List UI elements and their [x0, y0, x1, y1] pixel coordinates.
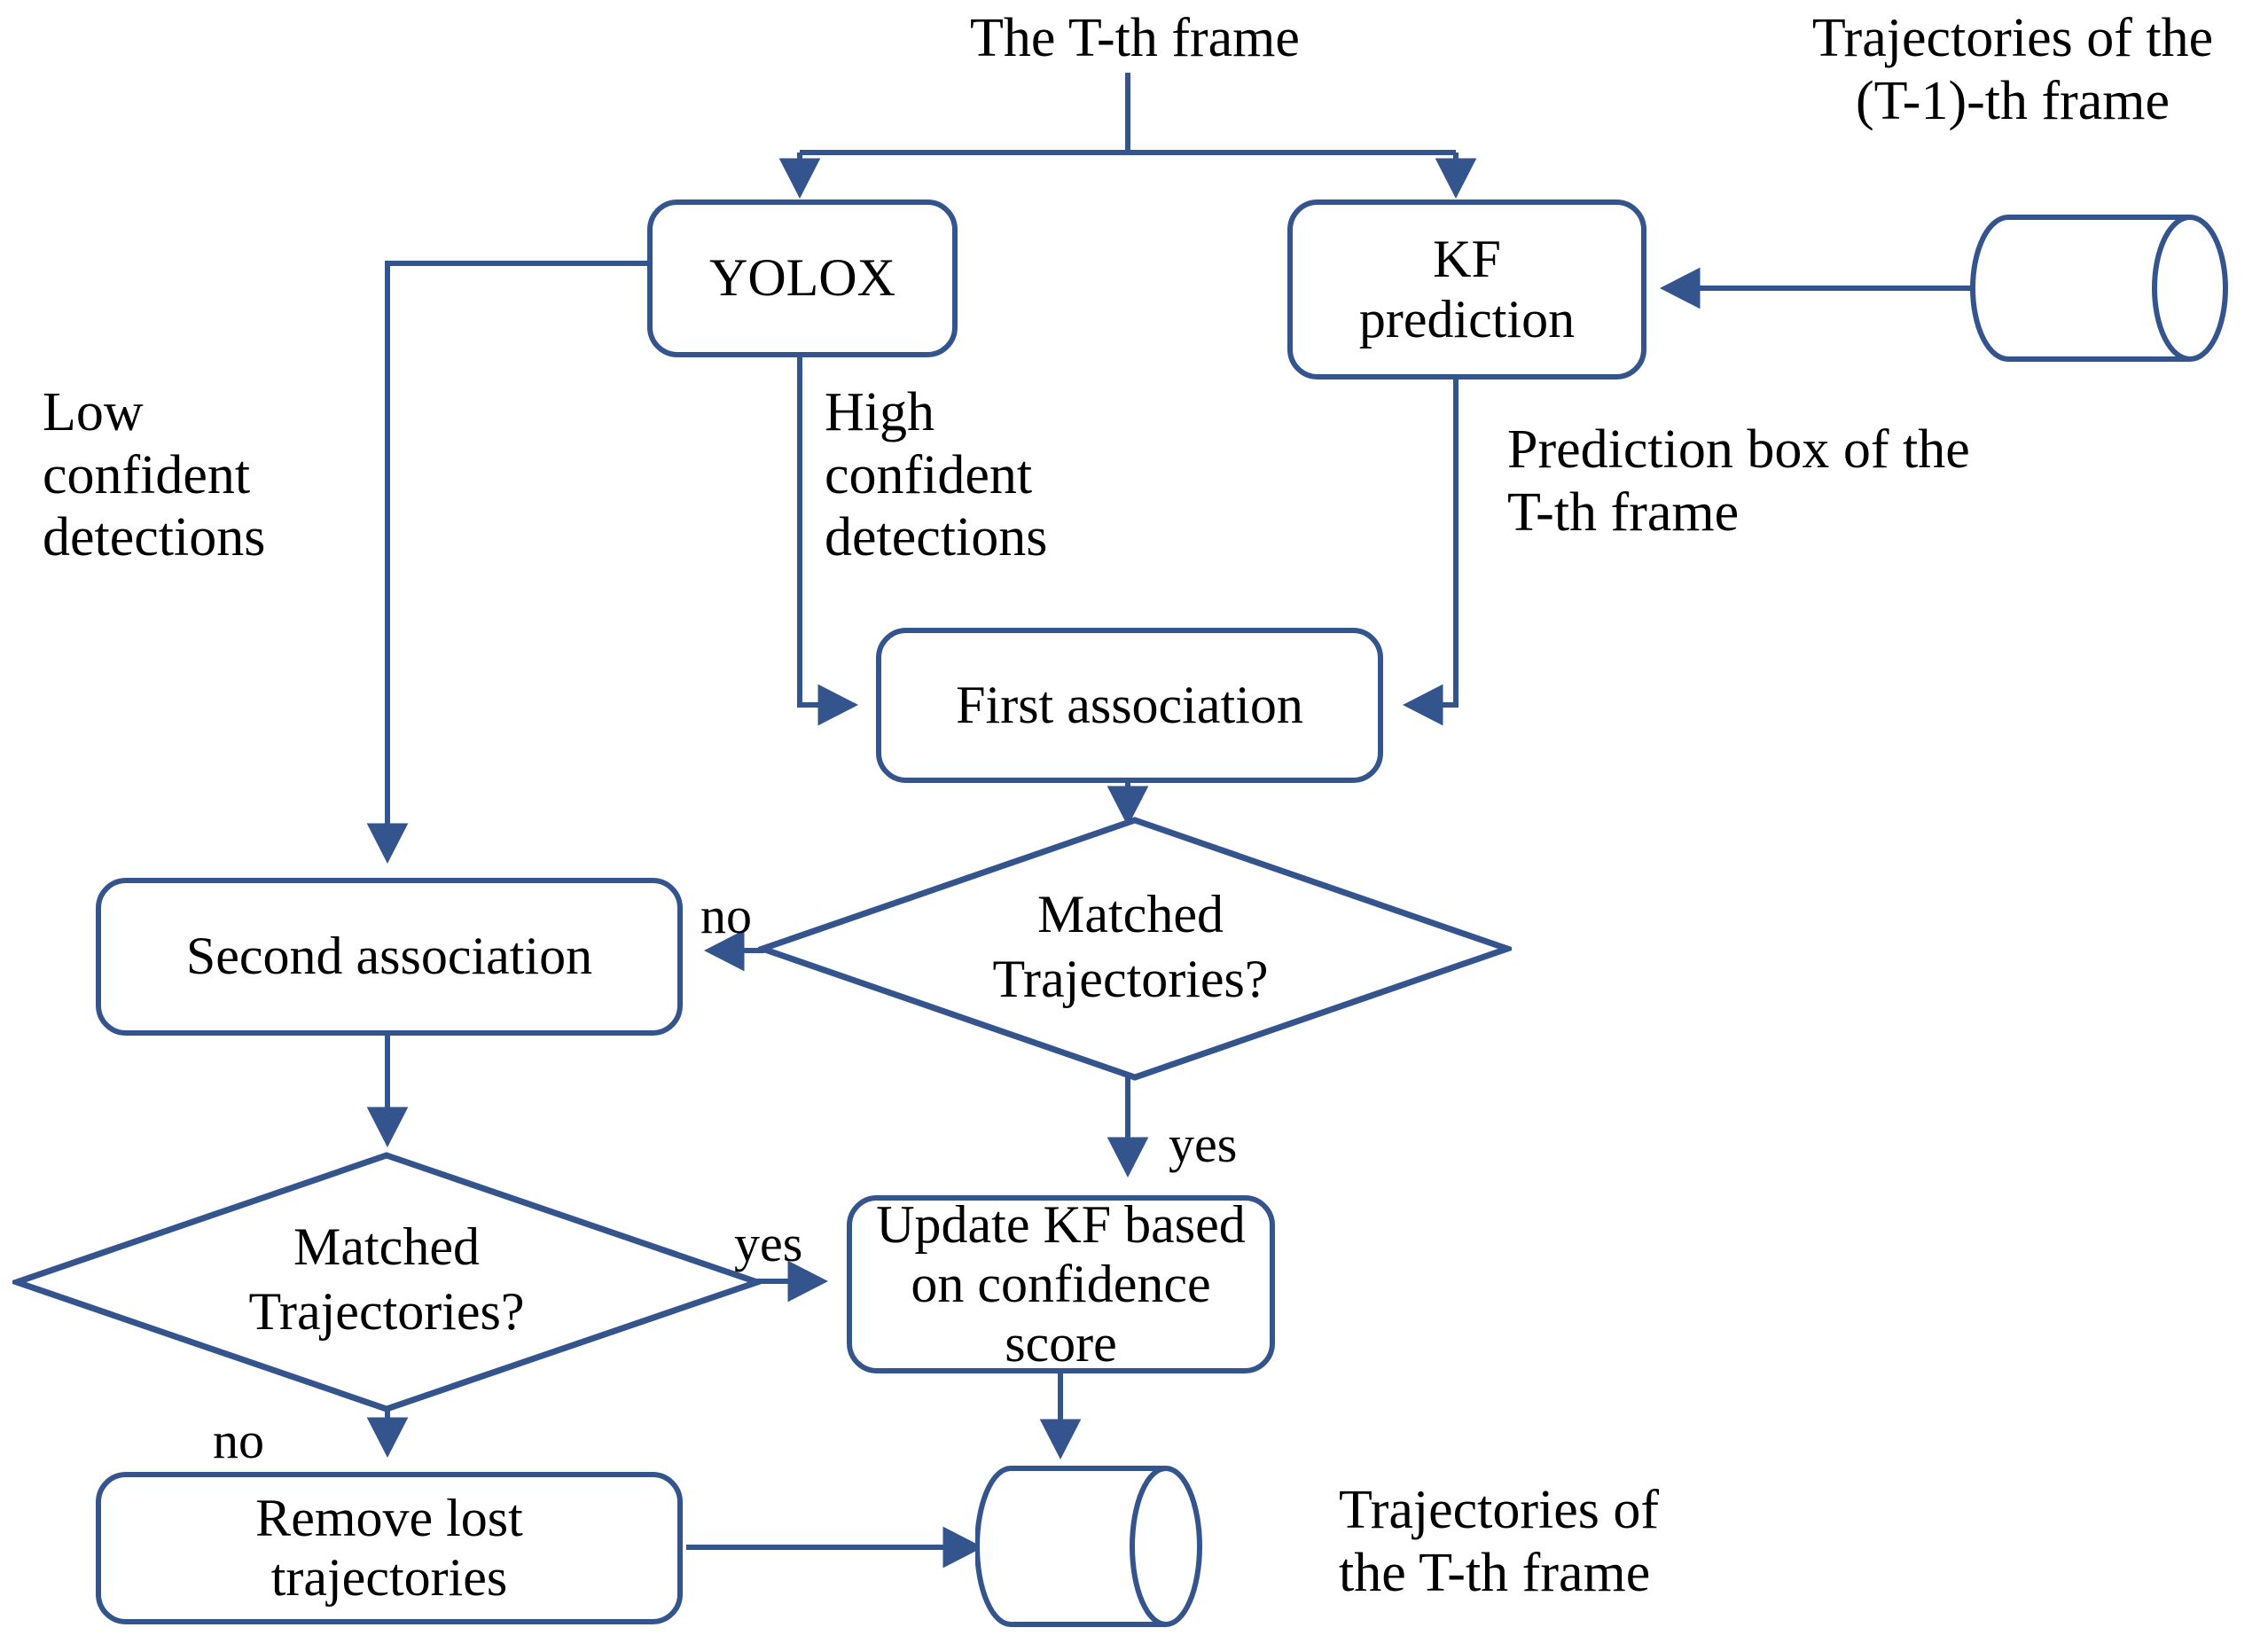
- prev-frame-trajectory-store[interactable]: [1968, 213, 2261, 364]
- wire-yolox-low-to-second: [387, 263, 647, 858]
- wire-kf-to-first: [1408, 379, 1456, 705]
- input-prev-trajectories-label: Trajectories of the (T-1)-th frame: [1764, 7, 2261, 132]
- decision-first-matched-label: Matched Trajectories?: [847, 882, 1414, 1012]
- edge-label-high-confident-detections: High confident detections: [825, 381, 1179, 569]
- edge-label-first-no: no: [700, 887, 825, 945]
- output-result-trajectories-label: Trajectories of the T-th frame: [1339, 1479, 1959, 1604]
- edge-label-low-confident-detections: Low confident detections: [43, 381, 397, 569]
- node-first-association[interactable]: First association: [876, 628, 1383, 783]
- edge-label-prediction-box: Prediction box of the T-th frame: [1507, 419, 2146, 544]
- node-remove-lost-trajectories[interactable]: Remove lost trajectories: [96, 1472, 683, 1624]
- node-kf-prediction[interactable]: KF prediction: [1287, 200, 1646, 379]
- edge-label-second-yes: yes: [734, 1215, 876, 1273]
- decision-second-matched-label: Matched Trajectories?: [103, 1215, 670, 1344]
- flowchart-canvas: The T-th frame Trajectories of the (T-1)…: [0, 0, 2268, 1651]
- node-update-kf[interactable]: Update KF based on confidence score: [847, 1195, 1275, 1373]
- edge-label-first-yes: yes: [1169, 1115, 1310, 1174]
- node-second-association[interactable]: Second association: [96, 878, 683, 1036]
- input-frame-label: The T-th frame: [887, 7, 1383, 70]
- current-frame-trajectory-store[interactable]: [975, 1463, 1241, 1630]
- node-yolox[interactable]: YOLOX: [647, 200, 958, 357]
- edge-label-second-no: no: [213, 1412, 337, 1470]
